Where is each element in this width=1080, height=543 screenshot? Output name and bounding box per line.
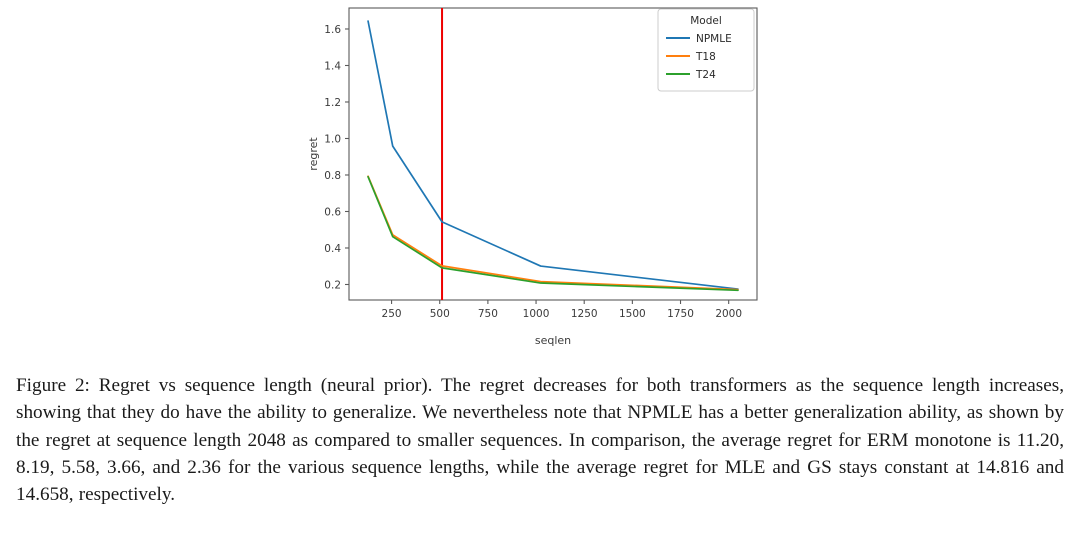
x-tick-label: 1000 [523,308,550,320]
y-tick-label: 1.6 [324,24,341,36]
x-tick-label: 1500 [619,308,646,320]
legend-label-t18: T18 [695,51,716,63]
y-tick-label: 1.0 [324,133,341,145]
x-tick-label: 1250 [571,308,598,320]
y-tick-label: 0.6 [324,206,341,218]
x-tick-label: 250 [382,308,402,320]
x-tick-label: 1750 [667,308,694,320]
plot-canvas: 25050075010001250150017502000 0.20.40.60… [300,0,780,360]
figure-page: 25050075010001250150017502000 0.20.40.60… [0,0,1080,543]
caption-text: Figure 2: Regret vs sequence length (neu… [16,375,1064,505]
legend-label-npmle: NPMLE [696,33,732,45]
y-axis-label: regret [307,137,320,171]
y-tick-label: 0.4 [324,243,341,255]
regret-vs-seqlen-figure: 25050075010001250150017502000 0.20.40.60… [300,0,780,360]
x-tick-label: 500 [430,308,450,320]
y-tick-label: 0.8 [324,170,341,182]
legend-label-t24: T24 [695,69,716,81]
legend[interactable]: Model NPMLET18T24 [658,9,754,91]
x-axis-label: seqlen [535,334,571,347]
y-tick-label: 0.2 [324,279,341,291]
figure-caption: Figure 2: Regret vs sequence length (neu… [16,372,1064,508]
y-tick-label: 1.4 [324,60,341,72]
y-tick-label: 1.2 [324,97,341,109]
x-tick-label: 2000 [715,308,742,320]
legend-title: Model [690,15,722,27]
x-tick-label: 750 [478,308,498,320]
